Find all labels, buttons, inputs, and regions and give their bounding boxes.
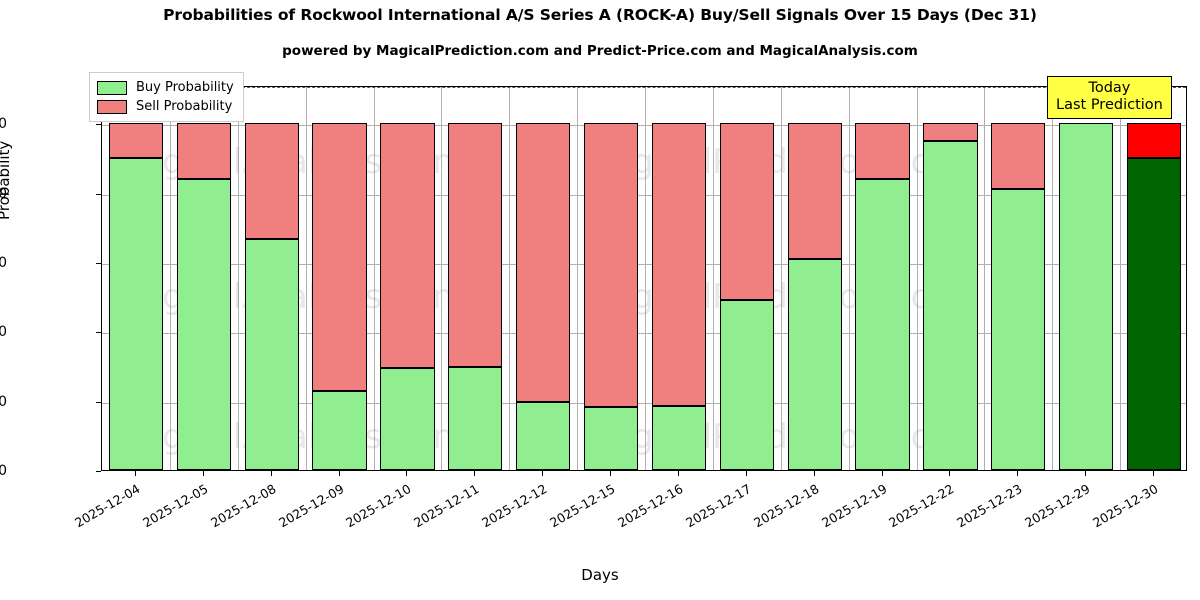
x-axis-tick-mark: [882, 471, 883, 476]
y-axis-tick-mark: [96, 332, 101, 333]
chart-subtitle: powered by MagicalPrediction.com and Pre…: [0, 43, 1200, 59]
x-axis-tick-mark: [203, 471, 204, 476]
bar-stack[interactable]: [991, 86, 1045, 470]
bar-segment-sell[interactable]: [855, 123, 909, 178]
y-axis-tick-label: 60: [0, 255, 7, 271]
bar-segment-sell[interactable]: [584, 123, 638, 406]
grid-line-vertical: [984, 87, 985, 470]
bar-segment-buy[interactable]: [245, 239, 299, 470]
x-axis-tick-mark: [814, 471, 815, 476]
grid-line-vertical: [781, 87, 782, 470]
bar-segment-sell[interactable]: [380, 123, 434, 368]
grid-line-vertical: [170, 87, 171, 470]
grid-line-vertical: [441, 87, 442, 470]
x-axis-tick-mark: [678, 471, 679, 476]
bar-segment-sell[interactable]: [448, 123, 502, 367]
chart-legend: Buy Probability Sell Probability: [89, 72, 244, 122]
bar-stack[interactable]: [448, 86, 502, 470]
bar-stack[interactable]: [245, 86, 299, 470]
legend-swatch-sell-icon: [97, 100, 127, 114]
bar-segment-buy[interactable]: [312, 391, 366, 470]
bar-stack[interactable]: [788, 86, 842, 470]
bar-segment-buy[interactable]: [380, 368, 434, 470]
legend-item-sell: Sell Probability: [97, 97, 234, 116]
grid-line-vertical: [1052, 87, 1053, 470]
bar-segment-buy[interactable]: [923, 141, 977, 470]
x-axis-label: Days: [0, 566, 1200, 584]
grid-line-vertical: [577, 87, 578, 470]
bar-stack[interactable]: [1059, 86, 1113, 470]
bar-segment-buy[interactable]: [652, 406, 706, 471]
plot-area: MagicalAnalysis.comMagicalPrediction.com…: [101, 86, 1187, 471]
bar-segment-sell[interactable]: [923, 123, 977, 141]
today-annotation: Today Last Prediction: [1047, 76, 1172, 119]
bar-segment-buy[interactable]: [177, 179, 231, 470]
bar-segment-sell[interactable]: [991, 123, 1045, 189]
bar-segment-sell[interactable]: [1127, 123, 1181, 158]
bar-segment-sell[interactable]: [109, 123, 163, 158]
x-axis-tick-mark: [949, 471, 950, 476]
y-axis-tick-label: 40: [0, 324, 7, 340]
y-axis-tick-label: 0: [0, 463, 7, 479]
bar-segment-buy[interactable]: [448, 367, 502, 470]
bar-stack[interactable]: [516, 86, 570, 470]
grid-line-vertical: [849, 87, 850, 470]
grid-line-vertical: [509, 87, 510, 470]
bar-segment-buy[interactable]: [516, 402, 570, 470]
bar-stack[interactable]: [109, 86, 163, 470]
bar-segment-sell[interactable]: [245, 123, 299, 239]
bar-stack[interactable]: [923, 86, 977, 470]
bar-stack[interactable]: [380, 86, 434, 470]
grid-line-vertical: [374, 87, 375, 470]
bar-segment-sell[interactable]: [788, 123, 842, 259]
x-axis-tick-mark: [1017, 471, 1018, 476]
y-axis-tick-label: 100: [0, 116, 7, 132]
y-axis-tick-mark: [96, 124, 101, 125]
bar-segment-sell[interactable]: [177, 123, 231, 179]
page-title: Probabilities of Rockwool International …: [0, 6, 1200, 24]
legend-swatch-buy-icon: [97, 81, 127, 95]
bar-segment-buy[interactable]: [1059, 123, 1113, 470]
grid-line-vertical: [645, 87, 646, 470]
x-axis-tick-label: 2025-12-04: [31, 481, 142, 554]
today-annotation-line2: Last Prediction: [1056, 97, 1163, 114]
bar-segment-sell[interactable]: [312, 123, 366, 391]
bar-segment-buy[interactable]: [584, 407, 638, 470]
x-axis-tick-mark: [746, 471, 747, 476]
bar-stack[interactable]: [584, 86, 638, 470]
bar-segment-buy[interactable]: [1127, 158, 1181, 470]
x-axis-tick-mark: [474, 471, 475, 476]
x-axis-tick-mark: [610, 471, 611, 476]
bar-segment-buy[interactable]: [720, 300, 774, 470]
x-axis-tick-mark: [1085, 471, 1086, 476]
x-axis-tick-mark: [406, 471, 407, 476]
x-axis-tick-mark: [542, 471, 543, 476]
x-axis-tick-mark: [135, 471, 136, 476]
bar-stack[interactable]: [720, 86, 774, 470]
grid-line-vertical: [238, 87, 239, 470]
bar-stack[interactable]: [652, 86, 706, 470]
legend-label-buy: Buy Probability: [136, 80, 234, 95]
x-axis-tick-mark: [271, 471, 272, 476]
x-axis-tick-mark: [339, 471, 340, 476]
y-axis-tick-label: 20: [0, 394, 7, 410]
bar-segment-sell[interactable]: [516, 123, 570, 402]
y-axis-tick-mark: [96, 263, 101, 264]
bar-segment-buy[interactable]: [109, 158, 163, 470]
chart-figure: Probabilities of Rockwool International …: [0, 0, 1200, 600]
bar-stack[interactable]: [177, 86, 231, 470]
bar-segment-buy[interactable]: [855, 179, 909, 470]
bar-segment-sell[interactable]: [652, 123, 706, 405]
legend-label-sell: Sell Probability: [136, 99, 232, 114]
bar-stack[interactable]: [312, 86, 366, 470]
y-axis-tick-mark: [96, 471, 101, 472]
bar-segment-buy[interactable]: [788, 259, 842, 470]
y-axis-label: Probability: [0, 141, 13, 220]
grid-line-vertical: [306, 87, 307, 470]
grid-line-vertical: [713, 87, 714, 470]
bar-stack[interactable]: [855, 86, 909, 470]
y-axis-tick-mark: [96, 194, 101, 195]
today-annotation-line1: Today: [1056, 80, 1163, 97]
grid-line-vertical: [1120, 87, 1121, 470]
x-axis-tick-mark: [1153, 471, 1154, 476]
legend-item-buy: Buy Probability: [97, 78, 234, 97]
bar-segment-buy[interactable]: [991, 189, 1045, 470]
bar-segment-sell[interactable]: [720, 123, 774, 300]
grid-line-vertical: [917, 87, 918, 470]
y-axis-tick-label: 80: [0, 186, 7, 202]
y-axis-tick-mark: [96, 402, 101, 403]
bar-stack[interactable]: [1127, 86, 1181, 470]
